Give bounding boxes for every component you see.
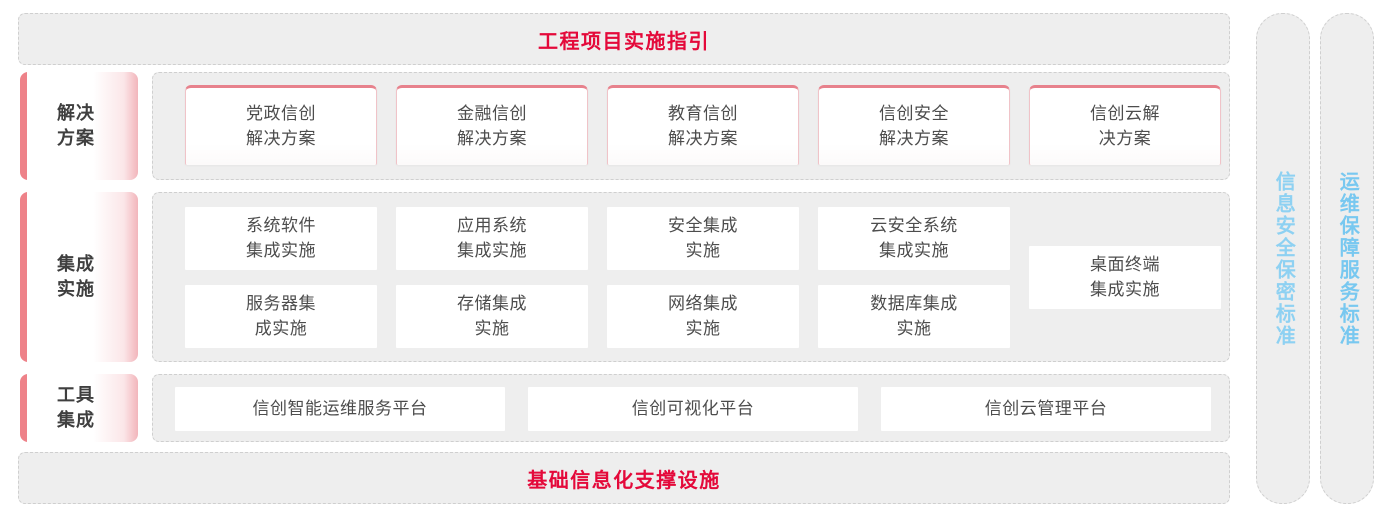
card-line2: 解决方案 <box>246 129 316 148</box>
card-solution-2[interactable]: 金融信创 解决方案 <box>396 85 588 165</box>
card-solution-4[interactable]: 信创安全 解决方案 <box>818 85 1010 165</box>
side-column-ops-standard: 运维保障服务标准 <box>1320 13 1374 504</box>
card-line1: 教育信创 <box>668 104 738 123</box>
stage-label-line2: 方案 <box>57 128 95 148</box>
card-line1: 存储集成 <box>457 294 527 313</box>
main-area: 工程项目实施指引 解决 方案 党政信创 解决方案 <box>0 0 1248 515</box>
row-integration: 集成 实施 系统软件 集成实施 应用系统 集成实施 <box>0 192 1248 362</box>
header-banner: 工程项目实施指引 <box>18 13 1230 65</box>
card-line2: 实施 <box>686 319 721 338</box>
card-line2: 集成实施 <box>246 241 316 260</box>
card-line1: 桌面终端 <box>1090 255 1160 274</box>
card-line1: 服务器集 <box>246 294 316 313</box>
card-tool-2-text: 信创可视化平台 <box>632 397 755 422</box>
card-integration-r1-3[interactable]: 安全集成 实施 <box>607 207 799 270</box>
card-line1: 党政信创 <box>246 104 316 123</box>
card-integration-r1-2[interactable]: 应用系统 集成实施 <box>396 207 588 270</box>
stage-label-line2: 集成 <box>57 410 95 430</box>
card-line2: 成实施 <box>255 319 308 338</box>
card-line1: 数据库集成 <box>870 294 958 313</box>
card-line2: 决方案 <box>1099 129 1152 148</box>
card-integration-r2-1-text: 服务器集 成实施 <box>246 292 316 341</box>
footer-title: 基础信息化支撑设施 <box>527 464 721 493</box>
card-solution-3-text: 教育信创 解决方案 <box>668 102 738 151</box>
card-line1: 应用系统 <box>457 216 527 235</box>
card-integration-r2-1[interactable]: 服务器集 成实施 <box>185 285 377 348</box>
stage-label-tools: 工具 集成 <box>20 374 138 442</box>
side-column-security-standard: 信息安全保密标准 <box>1256 13 1310 504</box>
card-integration-r2-3[interactable]: 网络集成 实施 <box>607 285 799 348</box>
card-tool-3[interactable]: 信创云管理平台 <box>881 387 1211 431</box>
card-integration-r2-2[interactable]: 存储集成 实施 <box>396 285 588 348</box>
panel-solution: 党政信创 解决方案 金融信创 解决方案 教育信创 解决方案 <box>152 72 1230 180</box>
card-solution-5-text: 信创云解 决方案 <box>1090 102 1160 151</box>
card-integration-r2-3-text: 网络集成 实施 <box>668 292 738 341</box>
card-line2: 实施 <box>475 319 510 338</box>
card-integration-desktop-terminal[interactable]: 桌面终端 集成实施 <box>1029 246 1221 309</box>
stage-label-line1: 集成 <box>57 254 95 274</box>
card-tool-1-text: 信创智能运维服务平台 <box>253 397 428 422</box>
stage-label-line2: 实施 <box>57 279 95 299</box>
card-solution-5[interactable]: 信创云解 决方案 <box>1029 85 1221 165</box>
card-integration-r2-4-text: 数据库集成 实施 <box>870 292 958 341</box>
card-integration-r2-4[interactable]: 数据库集成 实施 <box>818 285 1010 348</box>
card-solution-1-text: 党政信创 解决方案 <box>246 102 316 151</box>
card-line2: 集成实施 <box>1090 280 1160 299</box>
card-integration-r1-4-text: 云安全系统 集成实施 <box>870 214 958 263</box>
card-solution-1[interactable]: 党政信创 解决方案 <box>185 85 377 165</box>
card-solution-2-text: 金融信创 解决方案 <box>457 102 527 151</box>
card-line1: 信创安全 <box>879 104 949 123</box>
card-line2: 实施 <box>686 241 721 260</box>
stage-label-line1: 解决 <box>57 103 95 123</box>
card-line1: 系统软件 <box>246 216 316 235</box>
page-title: 工程项目实施指引 <box>538 25 710 54</box>
card-line2: 集成实施 <box>879 241 949 260</box>
card-line2: 解决方案 <box>668 129 738 148</box>
diagram-root: 工程项目实施指引 解决 方案 党政信创 解决方案 <box>0 0 1390 515</box>
side-column-security-standard-text: 信息安全保密标准 <box>1270 171 1296 347</box>
panel-tools: 信创智能运维服务平台 信创可视化平台 信创云管理平台 <box>152 374 1230 442</box>
stage-label-line1: 工具 <box>57 385 95 405</box>
card-solution-4-text: 信创安全 解决方案 <box>879 102 949 151</box>
row-solution: 解决 方案 党政信创 解决方案 金融信创 解决方案 <box>0 72 1248 180</box>
card-tool-1[interactable]: 信创智能运维服务平台 <box>175 387 505 431</box>
footer-banner: 基础信息化支撑设施 <box>18 452 1230 504</box>
card-integration-r1-4[interactable]: 云安全系统 集成实施 <box>818 207 1010 270</box>
card-line2: 实施 <box>897 319 932 338</box>
card-line1: 信创云解 <box>1090 104 1160 123</box>
card-integration-desktop-terminal-text: 桌面终端 集成实施 <box>1090 253 1160 302</box>
card-line2: 解决方案 <box>457 129 527 148</box>
card-integration-r2-2-text: 存储集成 实施 <box>457 292 527 341</box>
card-tool-3-text: 信创云管理平台 <box>985 397 1108 422</box>
stage-label-solution: 解决 方案 <box>20 72 138 180</box>
panel-integration: 系统软件 集成实施 应用系统 集成实施 安全集成 实施 <box>152 192 1230 362</box>
card-integration-r1-1-text: 系统软件 集成实施 <box>246 214 316 263</box>
stage-label-integration-text: 集成 实施 <box>57 252 101 302</box>
card-line1: 金融信创 <box>457 104 527 123</box>
card-line1: 网络集成 <box>668 294 738 313</box>
card-line2: 集成实施 <box>457 241 527 260</box>
stage-label-tools-text: 工具 集成 <box>57 383 101 433</box>
stage-label-integration: 集成 实施 <box>20 192 138 362</box>
card-line1: 安全集成 <box>668 216 738 235</box>
card-tool-2[interactable]: 信创可视化平台 <box>528 387 858 431</box>
card-integration-r1-1[interactable]: 系统软件 集成实施 <box>185 207 377 270</box>
card-line1: 云安全系统 <box>870 216 958 235</box>
card-solution-3[interactable]: 教育信创 解决方案 <box>607 85 799 165</box>
row-tools: 工具 集成 信创智能运维服务平台 信创可视化平台 信创云管理平台 <box>0 374 1248 442</box>
card-integration-r1-3-text: 安全集成 实施 <box>668 214 738 263</box>
card-line2: 解决方案 <box>879 129 949 148</box>
side-column-ops-standard-text: 运维保障服务标准 <box>1334 171 1360 347</box>
card-integration-r1-2-text: 应用系统 集成实施 <box>457 214 527 263</box>
stage-label-solution-text: 解决 方案 <box>57 101 101 151</box>
